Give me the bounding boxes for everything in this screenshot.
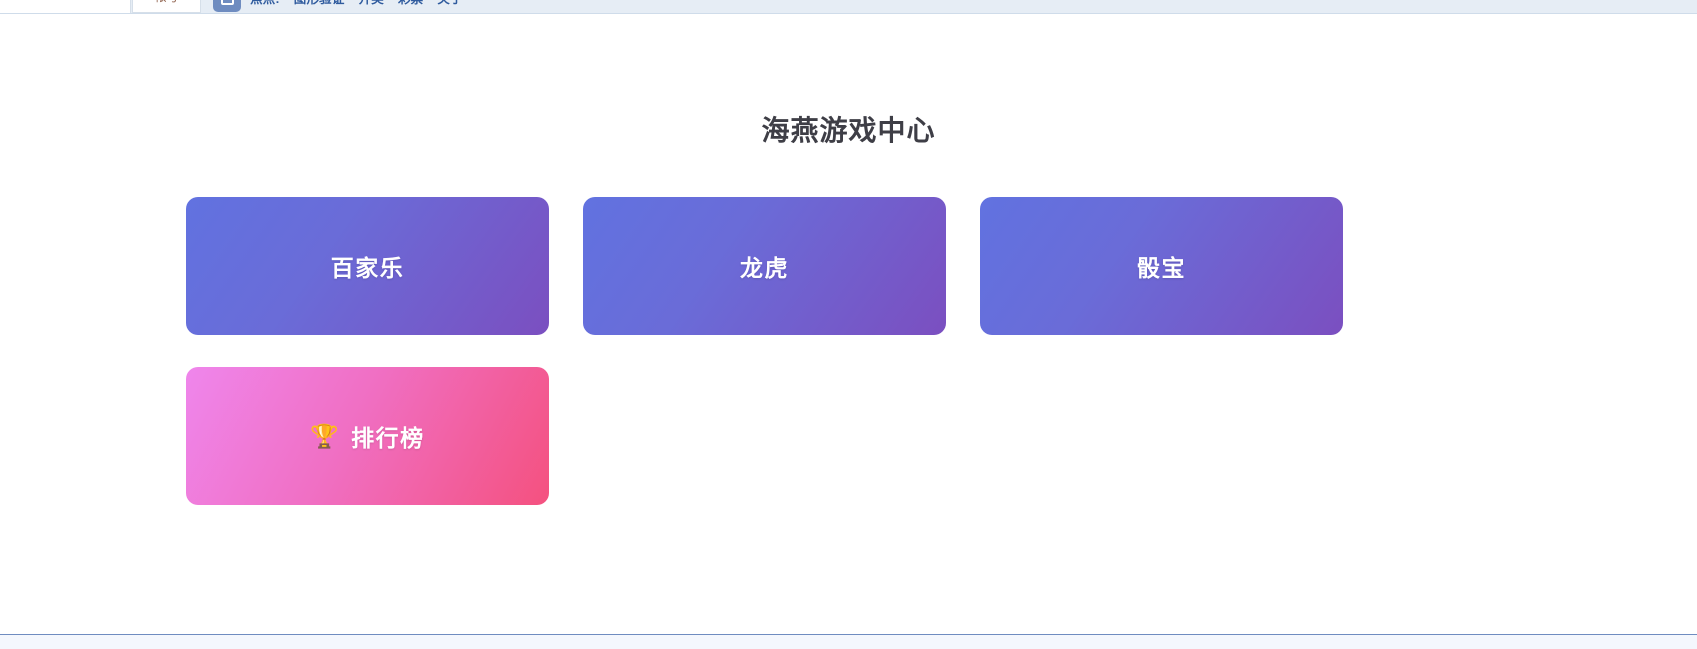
toolbar-link-draw[interactable]: 开奖 bbox=[359, 0, 384, 7]
stop-square-icon bbox=[221, 0, 234, 5]
toolbar-link-focus[interactable]: 焦点: bbox=[250, 0, 280, 7]
game-card-leaderboard[interactable]: 🏆 排行榜 bbox=[186, 367, 549, 505]
game-card-label: 排行榜 bbox=[351, 419, 425, 453]
game-card-label: 骰宝 bbox=[1137, 249, 1186, 283]
account-input[interactable]: 帐号 bbox=[132, 0, 201, 13]
page-title: 海燕游戏中心 bbox=[0, 109, 1697, 149]
game-card-dragon-tiger[interactable]: 龙虎 bbox=[583, 197, 946, 335]
game-card-baccarat[interactable]: 百家乐 bbox=[186, 197, 549, 335]
game-card-label: 百家乐 bbox=[331, 249, 405, 283]
stop-square-button[interactable] bbox=[213, 0, 241, 12]
toolbar-link-captcha[interactable]: 图形验证 bbox=[294, 0, 345, 7]
bottom-status-strip bbox=[0, 635, 1697, 649]
trophy-icon: 🏆 bbox=[310, 425, 339, 448]
main-content: 海燕游戏中心 百家乐 龙虎 骰宝 🏆 排行榜 bbox=[0, 14, 1697, 634]
toolbar-link-list: 焦点: 图形验证 开奖 彩票 关于 bbox=[250, 0, 463, 13]
browser-toolbar: 帐号 焦点: 图形验证 开奖 彩票 关于 bbox=[0, 0, 1697, 14]
game-card-sic-bo[interactable]: 骰宝 bbox=[980, 197, 1343, 335]
game-card-label: 龙虎 bbox=[740, 249, 789, 283]
toolbar-left-field[interactable] bbox=[0, 0, 131, 13]
toolbar-link-lottery[interactable]: 彩票 bbox=[398, 0, 423, 7]
toolbar-link-about[interactable]: 关于 bbox=[437, 0, 462, 7]
game-card-grid: 百家乐 龙虎 骰宝 🏆 排行榜 bbox=[0, 197, 1697, 505]
